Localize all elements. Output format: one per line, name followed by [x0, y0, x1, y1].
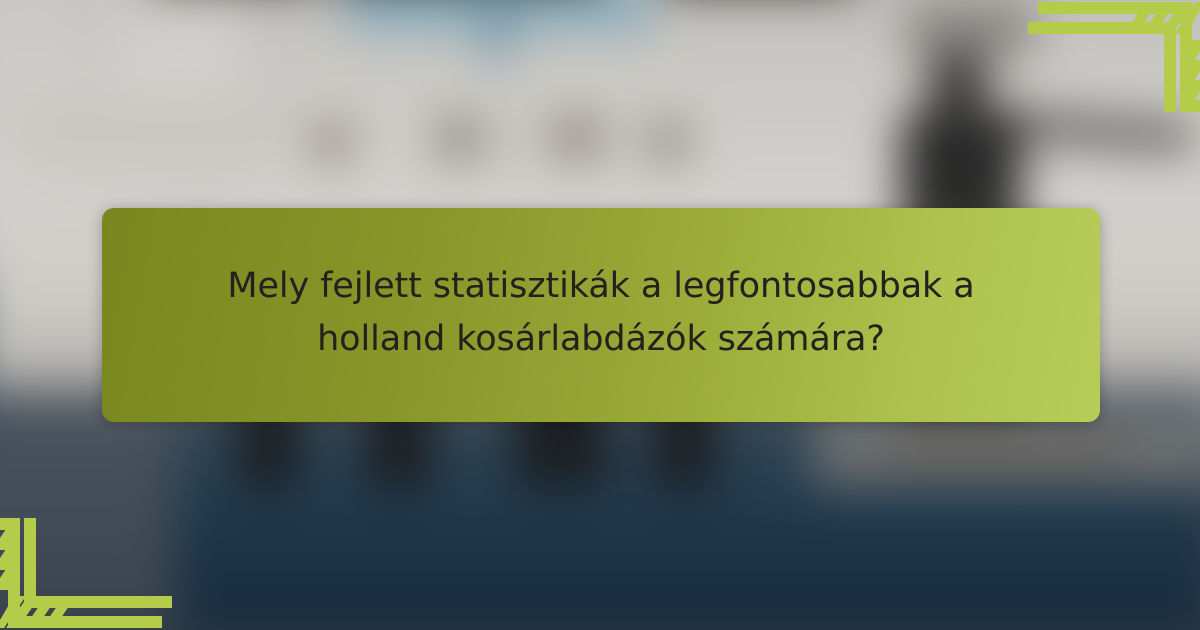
- question-text: Mely fejlett statisztikák a legfontosabb…: [172, 260, 1030, 370]
- share-card: Mely fejlett statisztikák a legfontosabb…: [0, 0, 1200, 630]
- question-banner: Mely fejlett statisztikák a legfontosabb…: [102, 208, 1100, 422]
- corner-ornament-bottom-left: [0, 518, 172, 630]
- corner-ornament-top-right: [1028, 0, 1200, 112]
